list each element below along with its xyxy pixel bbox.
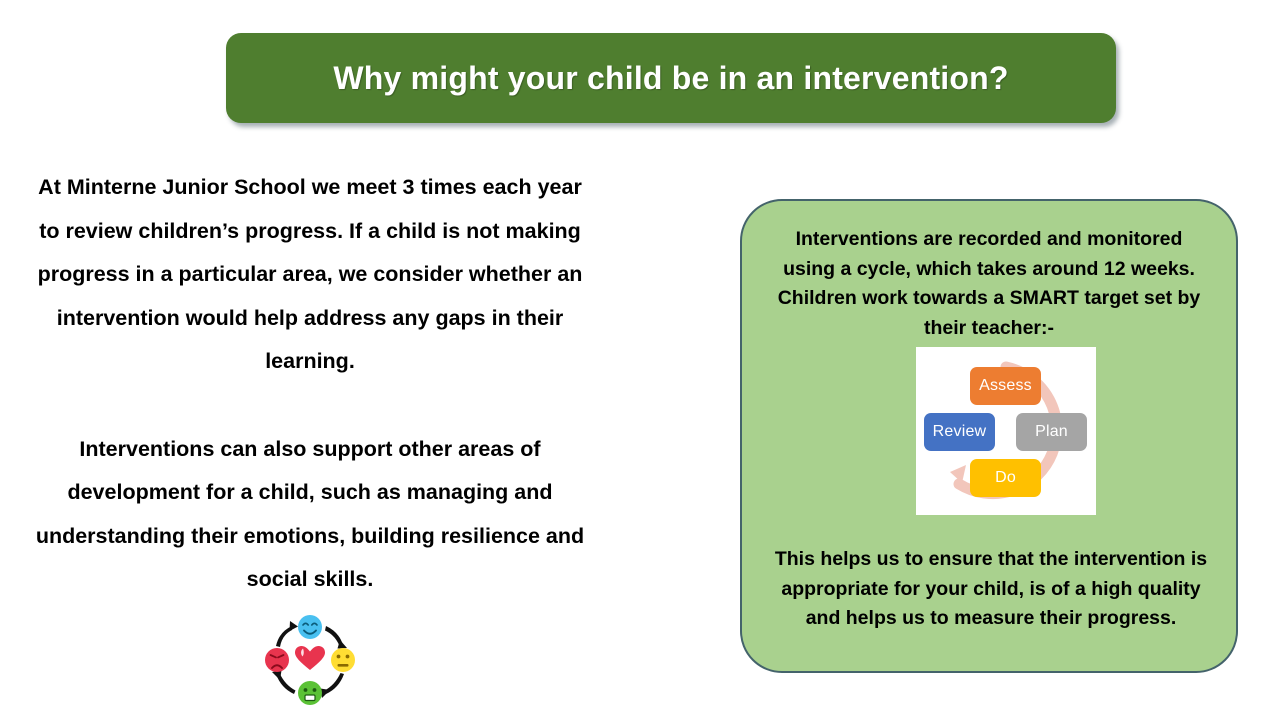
neutral-face-icon [331, 648, 355, 672]
cycle-description-paragraph: Interventions are recorded and monitored… [772, 225, 1206, 343]
title-banner: Why might your child be in an interventi… [226, 33, 1116, 123]
excited-face-icon [298, 681, 322, 705]
arrow-head-top-left-icon [290, 621, 299, 631]
assess-plan-do-review-image: Assess Plan Do Review [916, 347, 1096, 515]
cycle-info-panel: Interventions are recorded and monitored… [740, 199, 1238, 673]
cycle-benefit-paragraph: This helps us to ensure that the interve… [772, 545, 1210, 634]
sad-face-icon [265, 648, 289, 672]
cycle-stage-plan: Plan [1016, 413, 1087, 451]
heart-icon [295, 646, 325, 670]
left-text-column: At Minterne Junior School we meet 3 time… [30, 166, 590, 602]
happy-face-icon [298, 615, 322, 639]
intro-paragraph: At Minterne Junior School we meet 3 time… [30, 166, 590, 384]
emotions-cycle-graphic [262, 612, 358, 708]
cycle-stage-do: Do [970, 459, 1041, 497]
slide-canvas: Why might your child be in an interventi… [0, 0, 1280, 720]
emotions-cycle-svg [262, 612, 358, 708]
cycle-stage-review: Review [924, 413, 995, 451]
page-title: Why might your child be in an interventi… [333, 60, 1008, 97]
cycle-stage-assess: Assess [970, 367, 1041, 405]
support-areas-paragraph: Interventions can also support other are… [30, 428, 590, 602]
